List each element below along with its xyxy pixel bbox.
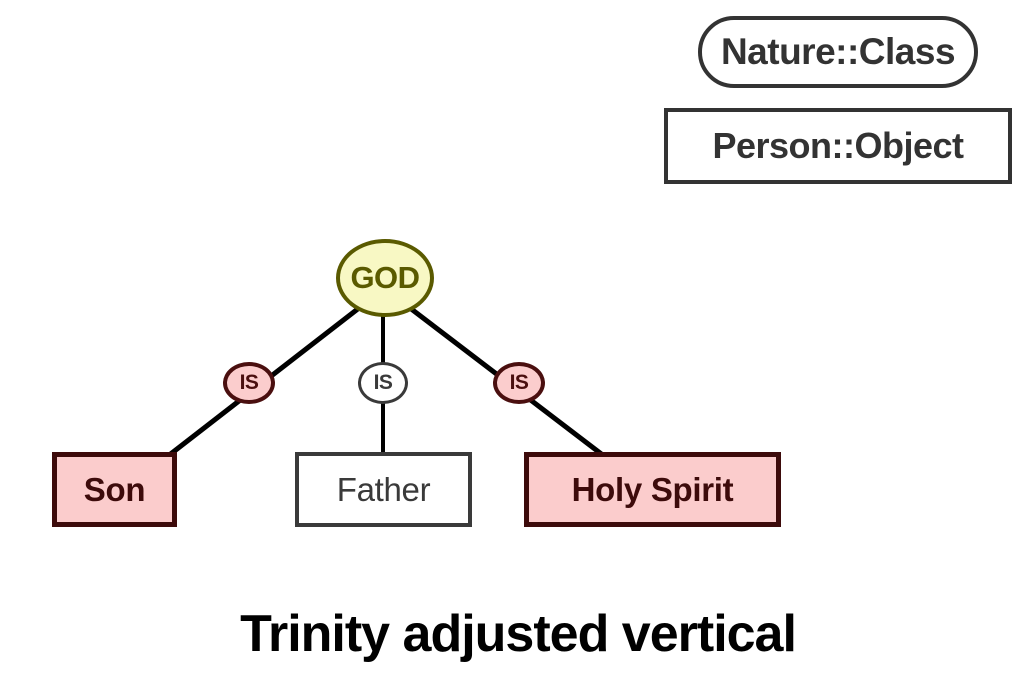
legend-nature-class-label: Nature::Class xyxy=(721,31,955,73)
node-son-label: Son xyxy=(84,471,145,509)
edge-label-god-father[interactable]: IS xyxy=(358,362,408,404)
node-god-label: GOD xyxy=(350,260,419,296)
edge-label-god-holy-spirit-text: IS xyxy=(510,371,529,395)
legend-person-object-label: Person::Object xyxy=(712,125,963,167)
node-holy-spirit[interactable]: Holy Spirit xyxy=(524,452,781,527)
node-father-label: Father xyxy=(337,471,431,509)
node-holy-spirit-label: Holy Spirit xyxy=(572,471,734,509)
edge-label-god-holy-spirit[interactable]: IS xyxy=(493,362,545,404)
edge-lines-layer xyxy=(0,0,1036,688)
diagram-canvas: Nature::Class Person::Object GOD IS IS I… xyxy=(0,0,1036,688)
node-son[interactable]: Son xyxy=(52,452,177,527)
edge-label-god-father-text: IS xyxy=(374,371,393,395)
edge-label-god-son[interactable]: IS xyxy=(223,362,275,404)
edge-label-god-son-text: IS xyxy=(240,371,259,395)
node-father[interactable]: Father xyxy=(295,452,472,527)
diagram-caption: Trinity adjusted vertical xyxy=(0,604,1036,664)
node-god[interactable]: GOD xyxy=(336,239,434,317)
legend-person-object-shape[interactable]: Person::Object xyxy=(664,108,1012,184)
legend-nature-class-shape[interactable]: Nature::Class xyxy=(698,16,978,88)
